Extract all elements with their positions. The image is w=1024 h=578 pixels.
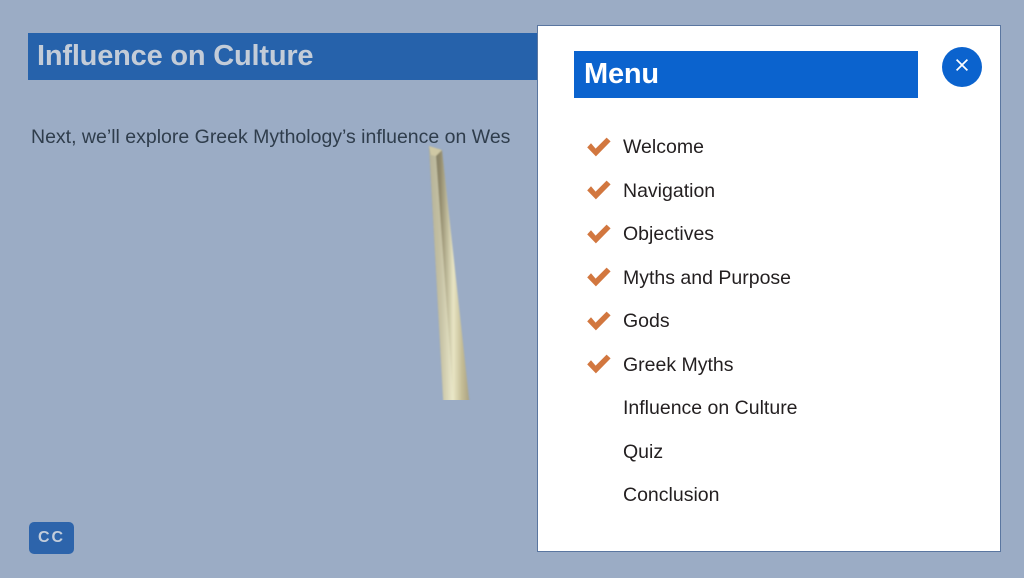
menu-item[interactable]: Navigation	[538, 170, 1000, 214]
closed-captions-label: CC	[38, 530, 65, 546]
menu-item[interactable]: Objectives	[538, 213, 1000, 257]
menu-item[interactable]: Welcome	[538, 126, 1000, 170]
menu-item-label: Quiz	[623, 443, 663, 463]
menu-item[interactable]: Myths and Purpose	[538, 257, 1000, 301]
menu-list: WelcomeNavigationObjectivesMyths and Pur…	[538, 126, 1000, 518]
menu-item[interactable]: Influence on Culture	[538, 387, 1000, 431]
menu-panel: Menu WelcomeNavigationObjectivesMyths an…	[537, 25, 1001, 552]
slide-stage: Influence on Culture Next, we’ll explore…	[0, 0, 1024, 578]
close-button[interactable]	[942, 47, 982, 87]
check-icon	[585, 223, 613, 247]
menu-title: Menu	[584, 60, 659, 89]
menu-item-label: Navigation	[623, 182, 715, 202]
check-icon	[585, 179, 613, 203]
check-icon	[585, 353, 613, 377]
menu-item[interactable]: Gods	[538, 300, 1000, 344]
check-icon	[585, 266, 613, 290]
close-icon	[952, 55, 972, 80]
menu-item[interactable]: Conclusion	[538, 474, 1000, 518]
menu-item-label: Conclusion	[623, 486, 719, 506]
page-title: Influence on Culture	[37, 42, 313, 71]
menu-item[interactable]: Greek Myths	[538, 344, 1000, 388]
menu-item-label: Gods	[623, 312, 670, 332]
menu-item-label: Greek Myths	[623, 356, 734, 376]
menu-item-label: Myths and Purpose	[623, 269, 791, 289]
check-icon	[585, 310, 613, 334]
menu-item-label: Objectives	[623, 225, 714, 245]
menu-item[interactable]: Quiz	[538, 431, 1000, 475]
closed-captions-button[interactable]: CC	[29, 522, 74, 554]
menu-item-label: Welcome	[623, 138, 704, 158]
menu-item-label: Influence on Culture	[623, 399, 798, 419]
menu-header-bar: Menu	[574, 51, 918, 98]
check-icon	[585, 136, 613, 160]
